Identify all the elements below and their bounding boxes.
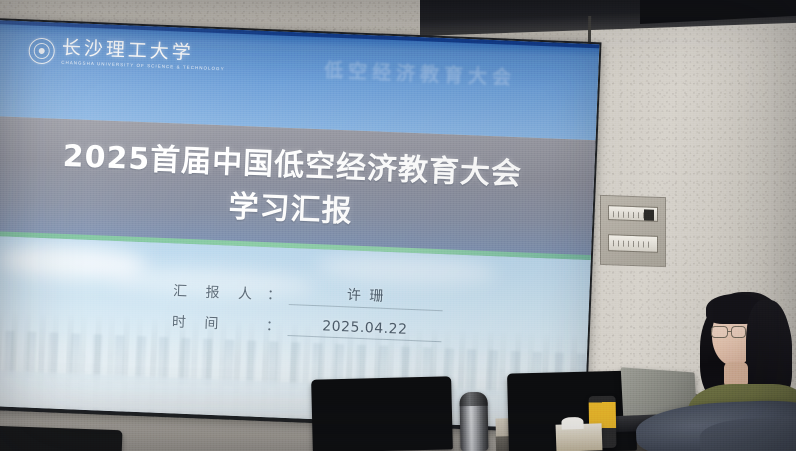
slide-meta-block: 汇 报 人 ： 许 珊 时 间 ： 2025.04.22 bbox=[172, 269, 444, 342]
slide-photo-area: 汇 报 人 ： 许 珊 时 间 ： 2025.04.22 bbox=[0, 236, 591, 430]
wall-control-panel[interactable] bbox=[600, 195, 666, 267]
projection-screen: 长沙理工大学 CHANGSHA UNIVERSITY OF SCIENCE & … bbox=[0, 18, 602, 434]
lens-left bbox=[711, 326, 728, 338]
screen-frame: 长沙理工大学 CHANGSHA UNIVERSITY OF SCIENCE & … bbox=[0, 18, 602, 434]
chair-foreground-left bbox=[0, 426, 122, 451]
thermos-steel bbox=[459, 392, 488, 451]
conference-room-scene: 长沙理工大学 CHANGSHA UNIVERSITY OF SCIENCE & … bbox=[0, 0, 796, 451]
panel-ticks-icon bbox=[613, 240, 653, 247]
lens-right bbox=[731, 326, 746, 338]
panel-display-slot bbox=[608, 205, 658, 222]
panel-indicator-icon bbox=[644, 209, 654, 220]
panel-label-slot bbox=[608, 234, 658, 253]
presentation-slide: 长沙理工大学 CHANGSHA UNIVERSITY OF SCIENCE & … bbox=[0, 20, 599, 430]
presenter-colon: ： bbox=[259, 284, 290, 305]
thermos-cap bbox=[459, 392, 487, 406]
slide-ghost-text: 低空经济教育大会 bbox=[324, 55, 517, 90]
university-logo-text: 长沙理工大学 CHANGSHA UNIVERSITY OF SCIENCE & … bbox=[61, 39, 225, 72]
slide-title-band: 2025首届中国低空经济教育大会 学习汇报 bbox=[0, 116, 596, 260]
tissue-box bbox=[556, 423, 603, 451]
date-label: 时 间 bbox=[172, 311, 259, 334]
date-colon: ： bbox=[257, 315, 288, 336]
university-logo: 长沙理工大学 CHANGSHA UNIVERSITY OF SCIENCE & … bbox=[28, 37, 225, 71]
university-seal-icon bbox=[28, 38, 55, 65]
chair-black-left bbox=[311, 376, 453, 451]
eyeglasses-icon bbox=[711, 326, 755, 338]
